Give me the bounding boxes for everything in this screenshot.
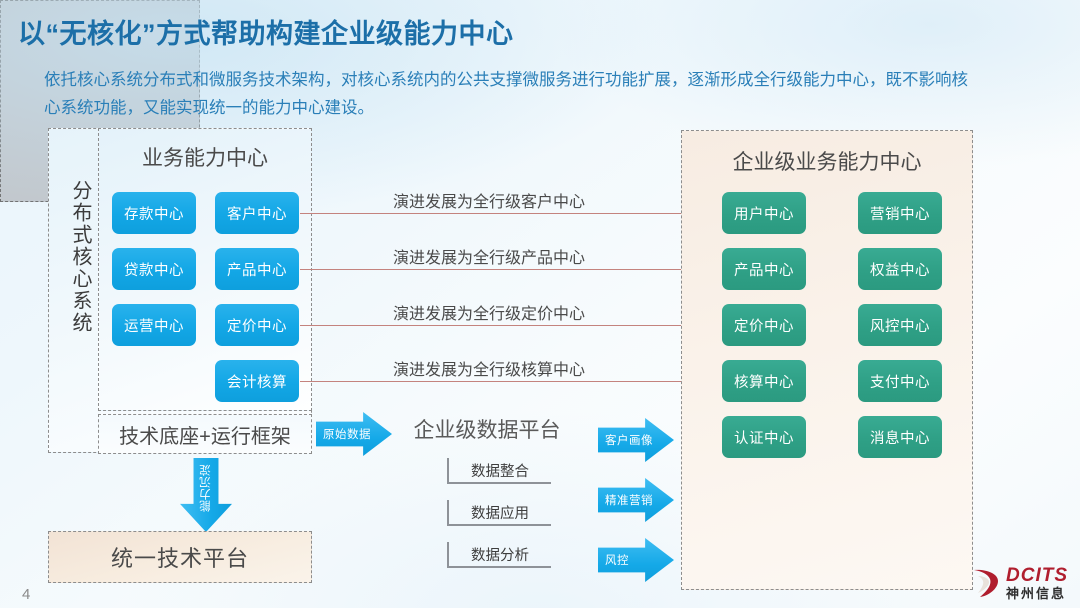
unified-technology-platform-box: 统一技术平台 xyxy=(48,531,312,583)
arrow-capability-precipitation-label: 能力沉淀 xyxy=(198,464,214,512)
ent-box-authentication[interactable]: 认证中心 xyxy=(722,416,806,458)
ent-box-rights[interactable]: 权益中心 xyxy=(858,248,942,290)
tech-base-label: 技术底座+运行框架 xyxy=(119,420,291,449)
logo-text: DCITS 神州信息 xyxy=(1006,566,1068,600)
biz-box-operation[interactable]: 运营中心 xyxy=(112,304,196,346)
evolution-label-2: 演进发展为全行级产品中心 xyxy=(393,244,585,268)
slide-canvas: 以“无核化”方式帮助构建企业级能力中心 依托核心系统分布式和微服务技术架构，对核… xyxy=(0,0,1080,608)
company-logo: DCITS 神州信息 xyxy=(971,566,1068,600)
evolution-label-1: 演进发展为全行级客户中心 xyxy=(393,188,585,212)
biz-box-loan[interactable]: 贷款中心 xyxy=(112,248,196,290)
biz-box-accounting[interactable]: 会计核算 xyxy=(215,360,299,402)
distributed-core-system-label: 分布式核心系统 xyxy=(54,180,94,334)
evolution-line-3 xyxy=(300,325,718,326)
arrow-raw-data: 原始数据 xyxy=(316,412,392,456)
data-item-analysis[interactable]: 数据分析 xyxy=(447,542,551,568)
biz-box-deposit[interactable]: 存款中心 xyxy=(112,192,196,234)
biz-box-customer[interactable]: 客户中心 xyxy=(215,192,299,234)
ent-box-pricing[interactable]: 定价中心 xyxy=(722,304,806,346)
page-subtitle: 依托核心系统分布式和微服务技术架构，对核心系统内的公共支撑微服务进行功能扩展，逐… xyxy=(44,66,974,122)
logo-chinese: 神州信息 xyxy=(1006,587,1068,600)
dcits-swoosh-icon xyxy=(971,567,1001,599)
page-number: 4 xyxy=(22,586,30,603)
enterprise-capability-center-title: 企业级业务能力中心 xyxy=(681,146,973,176)
ent-box-message[interactable]: 消息中心 xyxy=(858,416,942,458)
unified-technology-platform-label: 统一技术平台 xyxy=(111,541,249,573)
ent-box-risk-control[interactable]: 风控中心 xyxy=(858,304,942,346)
page-title: 以“无核化”方式帮助构建企业级能力中心 xyxy=(18,12,514,51)
data-item-integration[interactable]: 数据整合 xyxy=(447,458,551,484)
arrow-customer-profile: 客户画像 xyxy=(598,418,674,462)
biz-box-product[interactable]: 产品中心 xyxy=(215,248,299,290)
evolution-line-4 xyxy=(300,381,718,382)
logo-brand: DCITS xyxy=(1006,566,1068,585)
arrow-precision-marketing: 精准营销 xyxy=(598,478,674,522)
evolution-label-3: 演进发展为全行级定价中心 xyxy=(393,300,585,324)
business-capability-center-title: 业务能力中心 xyxy=(98,142,312,172)
tech-base-box: 技术底座+运行框架 xyxy=(98,414,312,454)
arrow-risk-control: 风控 xyxy=(598,538,674,582)
evolution-line-2 xyxy=(300,269,718,270)
data-item-application[interactable]: 数据应用 xyxy=(447,500,551,526)
ent-box-product[interactable]: 产品中心 xyxy=(722,248,806,290)
ent-box-marketing[interactable]: 营销中心 xyxy=(858,192,942,234)
ent-box-accounting[interactable]: 核算中心 xyxy=(722,360,806,402)
biz-box-pricing[interactable]: 定价中心 xyxy=(215,304,299,346)
arrow-capability-precipitation: 能力沉淀 xyxy=(180,458,232,532)
evolution-label-4: 演进发展为全行级核算中心 xyxy=(393,356,585,380)
ent-box-payment[interactable]: 支付中心 xyxy=(858,360,942,402)
evolution-line-1 xyxy=(300,213,718,214)
ent-box-user[interactable]: 用户中心 xyxy=(722,192,806,234)
data-platform-title: 企业级数据平台 xyxy=(388,414,586,444)
